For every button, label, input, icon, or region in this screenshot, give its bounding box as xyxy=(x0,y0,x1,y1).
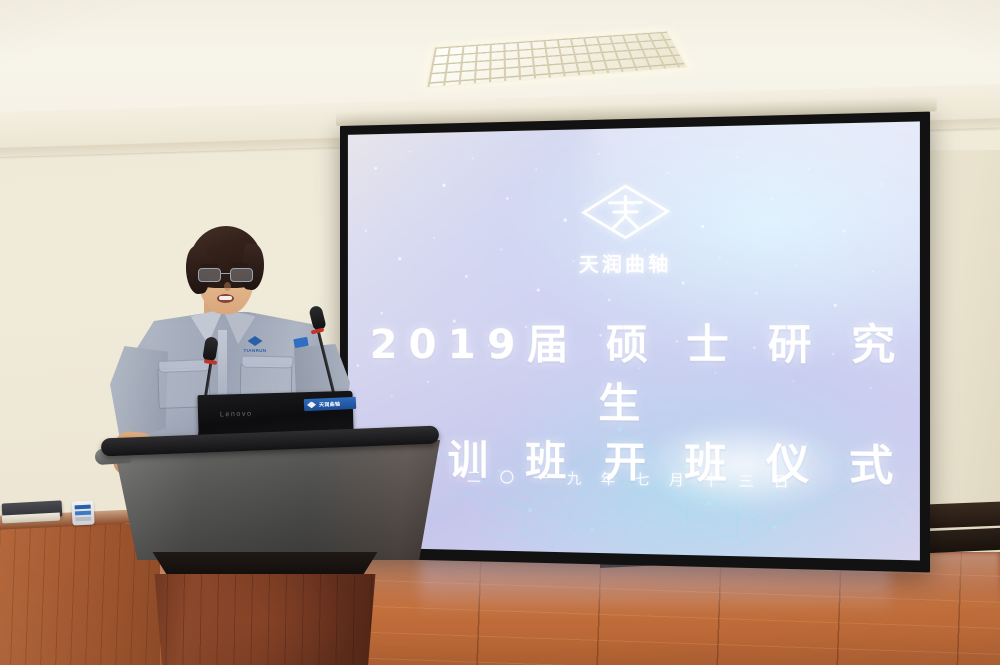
company-name-text: 天润曲轴 xyxy=(348,246,920,279)
slide-title-line-1: 2019届 硕 士 研 究 生 xyxy=(348,315,920,436)
teeth xyxy=(219,296,232,300)
remote-button-row-3 xyxy=(75,517,91,522)
grid-light-center xyxy=(425,30,689,88)
mic-head-foam xyxy=(202,336,219,362)
mic-head-foam xyxy=(308,305,326,331)
glasses-bridge xyxy=(221,273,231,274)
diamond-outline-icon xyxy=(579,181,672,242)
mic-accent-ring xyxy=(204,359,217,365)
lectern xyxy=(92,424,442,665)
head xyxy=(184,226,268,322)
presentation-photo: 天润曲轴 2019届 硕 士 研 究 生 培 训 班 开 班 仪 式 二 〇 一… xyxy=(0,0,1000,665)
sticker-text: 天润曲轴 xyxy=(319,400,340,408)
shirt-logo-diamond-icon xyxy=(248,336,263,346)
remote-button-row-1 xyxy=(75,505,91,510)
shirt-embroidered-logo-icon: TIANRUN xyxy=(234,336,276,360)
sticker-diamond-icon xyxy=(307,401,316,408)
remote-button-row-2 xyxy=(75,511,91,516)
lectern-body-shading xyxy=(92,440,440,560)
mic-gooseneck-rod xyxy=(316,328,336,399)
glasses-icon xyxy=(197,268,255,283)
slide-logo-block: 天润曲轴 xyxy=(348,177,920,279)
laptop-company-sticker: 天润曲轴 xyxy=(304,397,356,411)
light-louver-cells xyxy=(427,32,686,87)
tianrun-diamond-logo-icon xyxy=(579,181,672,242)
shirt-logo-text: TIANRUN xyxy=(234,348,276,353)
laptop-brand-text: Lenovo xyxy=(220,411,253,419)
lens-right xyxy=(230,268,253,282)
lens-left xyxy=(198,268,221,282)
nose xyxy=(224,282,231,291)
hair-side-right xyxy=(240,243,267,291)
lectern-base-grain xyxy=(150,574,380,665)
